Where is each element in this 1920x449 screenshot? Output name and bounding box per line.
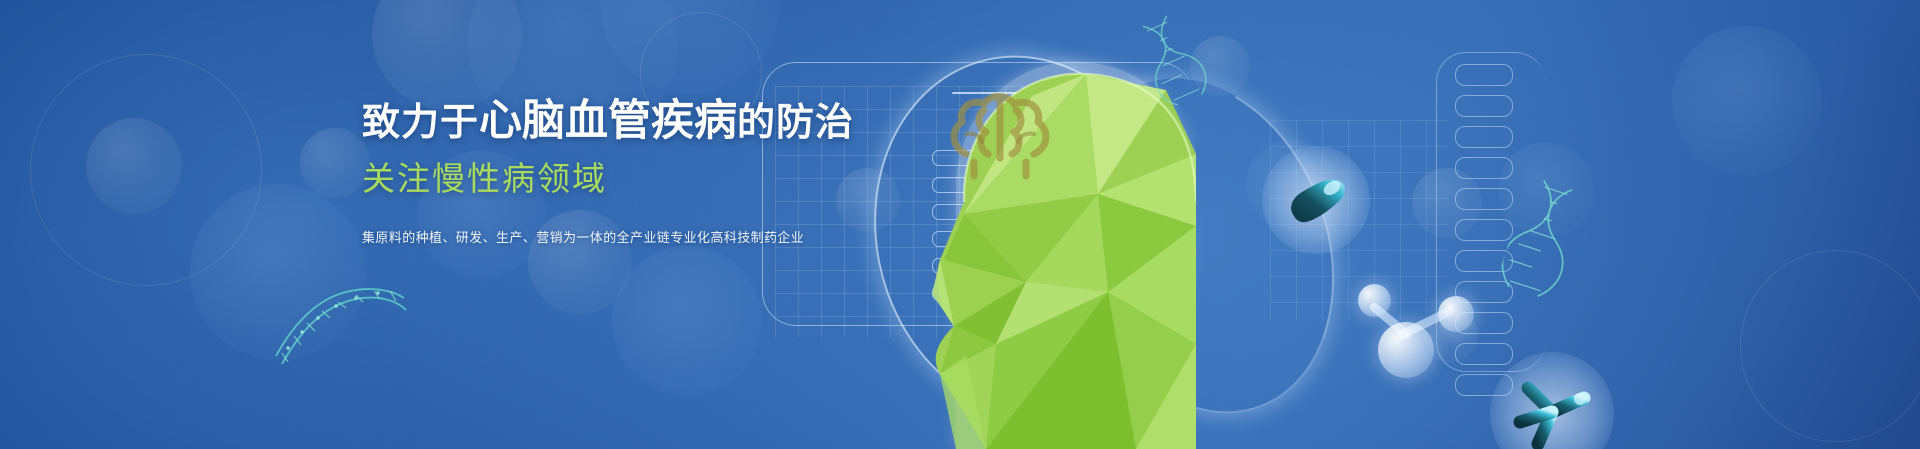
molecule-atom bbox=[1378, 322, 1434, 378]
rod-bacterium-icon bbox=[1282, 168, 1352, 235]
right-panel-bar-list bbox=[1455, 64, 1513, 405]
panel-bar bbox=[1455, 126, 1513, 148]
panel-bar bbox=[1455, 343, 1513, 365]
hero-description: 集原料的种植、研发、生产、营销为一体的全产业链专业化高科技制药企业 bbox=[362, 228, 792, 248]
page-title: 致力于心脑血管疾病的防治 bbox=[362, 96, 792, 147]
bokeh-circle bbox=[600, 0, 780, 94]
bokeh-circle bbox=[30, 54, 262, 286]
bokeh-circle bbox=[86, 118, 182, 214]
subheadline: 关注慢性病领域 bbox=[362, 159, 792, 199]
headline-prefix: 致力于 bbox=[362, 102, 479, 144]
brain-icon bbox=[940, 88, 1060, 180]
y-shaped-bacterium-icon bbox=[1508, 372, 1596, 449]
panel-bar bbox=[1455, 188, 1513, 210]
hero-text-block: 致力于心脑血管疾病的防治 关注慢性病领域 集原料的种植、研发、生产、营销为一体的… bbox=[362, 96, 792, 248]
panel-bar bbox=[1455, 64, 1513, 86]
molecule-atom bbox=[1358, 284, 1391, 317]
bokeh-circle bbox=[1740, 250, 1920, 442]
panel-bar bbox=[1455, 219, 1513, 241]
bokeh-circle bbox=[612, 246, 762, 396]
panel-bar bbox=[1455, 95, 1513, 117]
bokeh-circle bbox=[372, 0, 522, 110]
bokeh-circle bbox=[1672, 26, 1822, 176]
headline-emphasis: 心脑血管疾病 bbox=[479, 97, 737, 145]
headline-suffix: 的防治 bbox=[737, 102, 854, 144]
bokeh-circle bbox=[300, 128, 370, 198]
dna-helix-left bbox=[268, 258, 408, 373]
molecule-atom bbox=[1438, 296, 1474, 332]
hero-banner: 致力于心脑血管疾病的防治 关注慢性病领域 集原料的种植、研发、生产、营销为一体的… bbox=[0, 0, 1920, 449]
panel-bar bbox=[1455, 157, 1513, 179]
